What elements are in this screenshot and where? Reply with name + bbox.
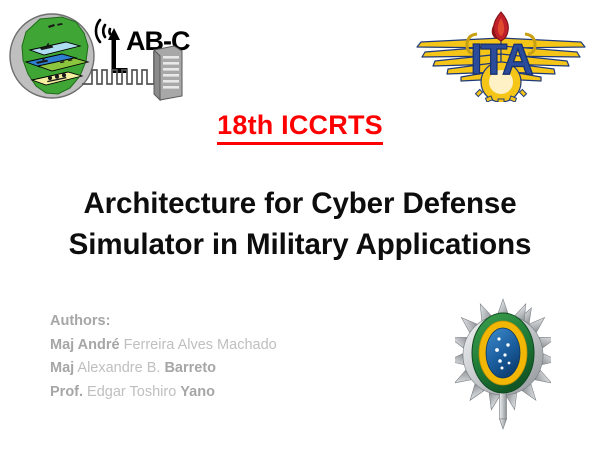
page-title: Architecture for Cyber Defense Simulator… (30, 183, 570, 265)
brazilian-army-emblem (455, 297, 551, 433)
author-entry-2: Maj Alexandre B. Barreto (50, 357, 390, 381)
author-entry-3: Prof. Edgar Toshiro Yano (50, 381, 390, 405)
army-blue-center (486, 328, 520, 378)
radio-wave-icon (96, 20, 110, 42)
author-2-surname: Barreto (164, 360, 216, 376)
ita-logo: ITA (415, 8, 587, 102)
author-3-rank: Prof. (50, 384, 83, 400)
author-1-name: Ferreira Alves Machado (120, 337, 277, 353)
ita-wordmark: ITA (470, 35, 533, 84)
page-title-line-1: Architecture for Cyber Defense (30, 183, 570, 224)
server-icon (154, 46, 182, 100)
author-3-name: Edgar Toshiro (83, 384, 180, 400)
page-title-line-2: Simulator in Military Applications (30, 224, 570, 265)
author-entry-1: Maj André Ferreira Alves Machado (50, 334, 390, 358)
conference-name: 18th ICCRTS (0, 110, 600, 145)
lab-c2-logo: AB-C2 (4, 6, 190, 108)
author-2-name: Alexandre B. (74, 360, 164, 376)
author-3-surname: Yano (180, 384, 215, 400)
lab-c2-badge-circle (10, 14, 94, 98)
authors-heading: Authors: (50, 310, 390, 334)
presentation-slide: AB-C2 (0, 0, 600, 450)
conference-label: 18th ICCRTS (217, 110, 383, 145)
authors-block: Authors: Maj André Ferreira Alves Machad… (50, 310, 390, 404)
antenna-icon (108, 28, 128, 73)
author-1-rank: Maj André (50, 337, 120, 353)
author-2-rank: Maj (50, 360, 74, 376)
